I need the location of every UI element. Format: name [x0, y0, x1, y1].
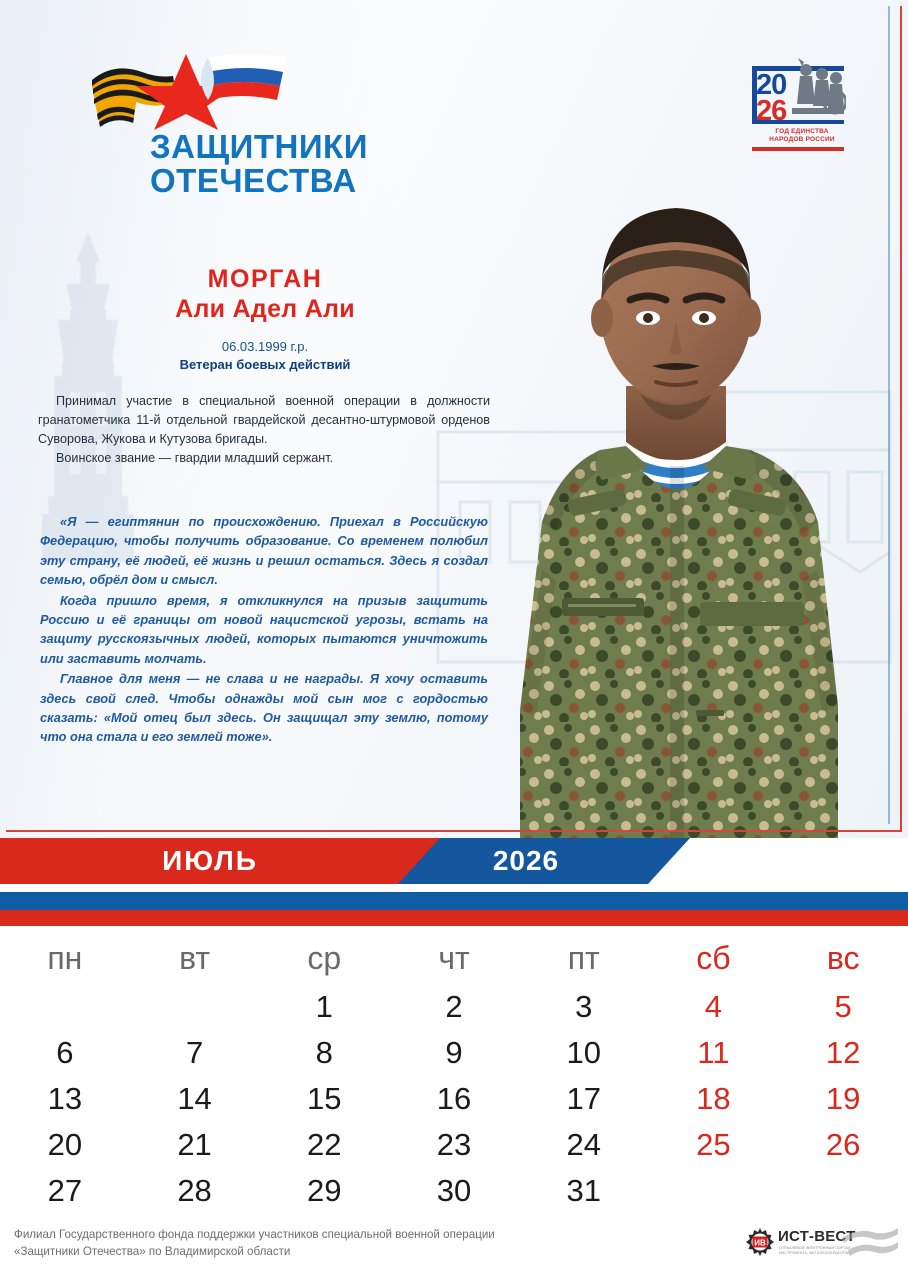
month-banner: ИЮЛЬ 2026	[0, 838, 908, 884]
calendar-week-row: 2728293031	[0, 1168, 908, 1214]
hero-section: ЗАЩИТНИКИ ОТЕЧЕСТВА	[0, 0, 908, 838]
person-surname: МОРГАН	[40, 264, 490, 294]
quote-paragraph-3: Главное для меня — не слава и не награды…	[40, 669, 488, 747]
brand-logo: ЗАЩИТНИКИ ОТЕЧЕСТВА	[90, 52, 420, 202]
calendar-week-row: 6789101112	[0, 1030, 908, 1076]
calendar-day-empty	[0, 984, 130, 1030]
person-given-names: Али Адел Али	[40, 294, 490, 324]
calendar-week-row: 12345	[0, 984, 908, 1030]
tricolor-white-stripe	[0, 884, 908, 892]
person-birth-date: 06.03.1999 г.р.	[40, 338, 490, 356]
calendar-day-28[interactable]: 28	[130, 1168, 260, 1214]
logo-line-1: ЗАЩИТНИКИ	[150, 130, 368, 164]
quote-paragraph-1: «Я — египтянин по происхождению. Приехал…	[40, 512, 488, 590]
calendar-day-14[interactable]: 14	[130, 1076, 260, 1122]
calendar-day-11[interactable]: 11	[649, 1030, 779, 1076]
footer-text: Филиал Государственного фонда поддержки …	[14, 1226, 654, 1260]
calendar-day-9[interactable]: 9	[389, 1030, 519, 1076]
calendar-day-25[interactable]: 25	[649, 1122, 779, 1168]
weekday-header-ср: ср	[259, 932, 389, 984]
tricolor-blue-stripe	[0, 892, 908, 910]
calendar-day-4[interactable]: 4	[649, 984, 779, 1030]
calendar-day-18[interactable]: 18	[649, 1076, 779, 1122]
emblem-bar-bottom	[752, 147, 844, 151]
emblem-caption-line-2: НАРОДОВ РОССИИ	[754, 136, 850, 144]
calendar-day-24[interactable]: 24	[519, 1122, 649, 1168]
emblem-bar-middle	[752, 120, 844, 124]
weekday-header-вс: вс	[778, 932, 908, 984]
footer-text-line-1: Филиал Государственного фонда поддержки …	[14, 1226, 654, 1243]
year-2026-emblem: 20 26 ГОД ЕДИНСТВА НАРОДОВ РОССИИ	[748, 48, 850, 156]
quote-paragraph-2: Когда пришло время, я откликнулся на при…	[40, 591, 488, 669]
calendar-day-19[interactable]: 19	[778, 1076, 908, 1122]
gear-logo-icon: ИВ	[746, 1228, 774, 1256]
bio-paragraph-1: Принимал участие в специальной военной о…	[38, 392, 490, 449]
soldier-portrait-photo	[450, 150, 902, 838]
calendar-day-22[interactable]: 22	[259, 1122, 389, 1168]
footer-text-line-2: «Защитники Отечества» по Владимирской об…	[14, 1243, 654, 1260]
calendar-day-27[interactable]: 27	[0, 1168, 130, 1214]
calendar-day-31[interactable]: 31	[519, 1168, 649, 1214]
calendar-day-15[interactable]: 15	[259, 1076, 389, 1122]
calendar-day-20[interactable]: 20	[0, 1122, 130, 1168]
calendar-page: ЗАЩИТНИКИ ОТЕЧЕСТВА	[0, 0, 908, 1280]
calendar-week-row: 13141516171819	[0, 1076, 908, 1122]
calendar-day-23[interactable]: 23	[389, 1122, 519, 1168]
calendar-day-26[interactable]: 26	[778, 1122, 908, 1168]
swoosh-icon	[842, 1226, 898, 1260]
year-label: 2026	[398, 838, 690, 884]
weekday-header-вт: вт	[130, 932, 260, 984]
calendar-day-empty	[778, 1168, 908, 1214]
emblem-caption: ГОД ЕДИНСТВА НАРОДОВ РОССИИ	[754, 128, 850, 144]
calendar-day-21[interactable]: 21	[130, 1122, 260, 1168]
calendar-day-6[interactable]: 6	[0, 1030, 130, 1076]
weekday-header-чт: чт	[389, 932, 519, 984]
monument-sculpture-icon	[788, 58, 846, 124]
calendar-day-8[interactable]: 8	[259, 1030, 389, 1076]
calendar-day-empty	[130, 984, 260, 1030]
calendar-day-13[interactable]: 13	[0, 1076, 130, 1122]
calendar-day-30[interactable]: 30	[389, 1168, 519, 1214]
calendar-day-3[interactable]: 3	[519, 984, 649, 1030]
star-ribbon-flag-logo-icon	[90, 52, 300, 130]
calendar-day-5[interactable]: 5	[778, 984, 908, 1030]
calendar-day-empty	[649, 1168, 779, 1214]
bio-paragraph-2: Воинское звание — гвардии младший сержан…	[38, 449, 490, 468]
calendar-day-1[interactable]: 1	[259, 984, 389, 1030]
calendar-day-7[interactable]: 7	[130, 1030, 260, 1076]
person-biography: Принимал участие в специальной военной о…	[38, 392, 490, 468]
tricolor-red-stripe	[0, 910, 908, 926]
calendar-day-12[interactable]: 12	[778, 1030, 908, 1076]
logo-line-2: ОТЕЧЕСТВА	[150, 164, 368, 198]
calendar-day-2[interactable]: 2	[389, 984, 519, 1030]
emblem-caption-line-1: ГОД ЕДИНСТВА	[754, 128, 850, 136]
calendar-day-29[interactable]: 29	[259, 1168, 389, 1214]
emblem-year: 20 26	[756, 72, 786, 124]
month-label: ИЮЛЬ	[0, 838, 440, 884]
svg-text:ИВ: ИВ	[754, 1238, 766, 1247]
calendar-weeks: 1234567891011121314151617181920212223242…	[0, 984, 908, 1214]
calendar-weekday-header: пнвтсрчтптсбвс	[0, 932, 908, 984]
weekday-header-сб: сб	[649, 932, 779, 984]
calendar-day-16[interactable]: 16	[389, 1076, 519, 1122]
logo-text: ЗАЩИТНИКИ ОТЕЧЕСТВА	[150, 130, 368, 198]
soldier-figure	[450, 150, 902, 838]
calendar-week-row: 20212223242526	[0, 1122, 908, 1168]
calendar-day-17[interactable]: 17	[519, 1076, 649, 1122]
calendar-day-10[interactable]: 10	[519, 1030, 649, 1076]
calendar-grid: пнвтсрчтптсбвс 1234567891011121314151617…	[0, 932, 908, 1214]
person-quote: «Я — египтянин по происхождению. Приехал…	[40, 512, 488, 748]
partner-logo: ИВ ИСТ-ВЕСТ ОТРАСЛЕВОЙ ЭЛЕКТРОННЫЙ ПОРТА…	[746, 1226, 896, 1262]
person-name-block: МОРГАН Али Адел Али 06.03.1999 г.р. Вете…	[40, 264, 490, 374]
person-status: Ветеран боевых действий	[40, 356, 490, 374]
weekday-header-пт: пт	[519, 932, 649, 984]
weekday-header-пн: пн	[0, 932, 130, 984]
